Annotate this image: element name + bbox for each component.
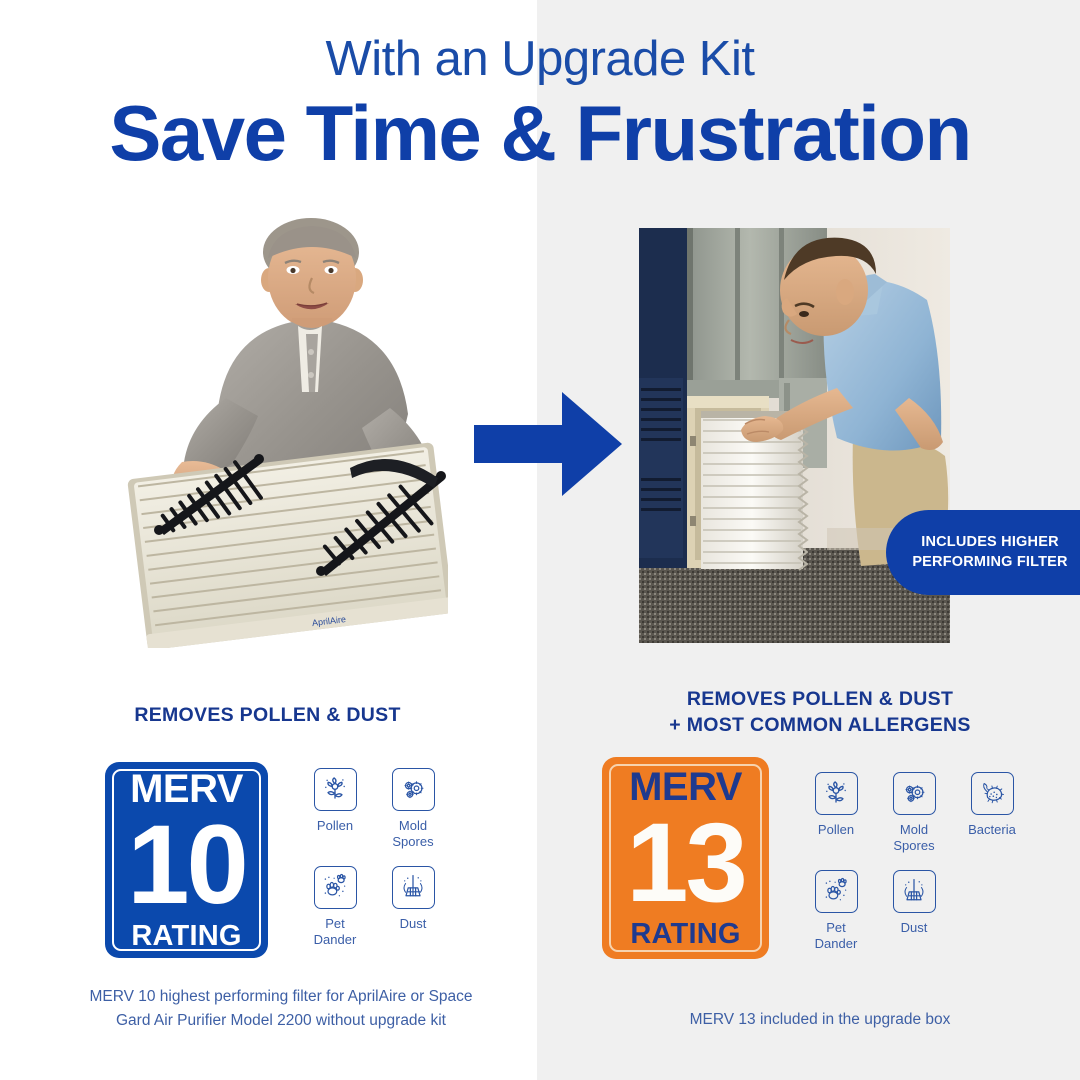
allergen-label-bacteria-right: Bacteria (968, 822, 1016, 838)
includes-higher-performing-filter-badge: INCLUDES HIGHER PERFORMING FILTER (886, 510, 1080, 595)
broom-icon (893, 870, 936, 913)
allergen-label-pollen-right: Pollen (818, 822, 854, 838)
headline-block: With an Upgrade Kit Save Time & Frustrat… (0, 34, 1080, 175)
merv-13-number: 13 (626, 809, 745, 917)
flower-icon (815, 772, 858, 815)
allergen-label-dust-right: Dust (901, 920, 928, 936)
allergen-cell-pollen-left: Pollen (296, 768, 374, 850)
includes-badge-line2: PERFORMING FILTER (912, 553, 1067, 573)
left-heading-line1: REMOVES POLLEN & DUST (60, 702, 475, 728)
mold-spores-icon (392, 768, 435, 811)
bacteria-icon (971, 772, 1014, 815)
allergen-cell-pet-dander-right: PetDander (797, 870, 875, 952)
merv-10-rating-label: RATING (131, 922, 241, 951)
right-allergen-icon-grid: Pollen (797, 772, 1057, 951)
allergen-label-pollen-left: Pollen (317, 818, 353, 834)
allergen-cell-pollen-right: Pollen (797, 772, 875, 854)
left-allergen-icon-grid: Pollen (296, 768, 476, 947)
arrow-right-icon (474, 392, 622, 496)
includes-badge-line1: INCLUDES HIGHER (912, 533, 1067, 553)
allergen-cell-dust-right: Dust (875, 870, 953, 952)
photo-man-holding-filter-frame: AprilAire (122, 212, 448, 648)
allergen-cell-spacer-right (953, 870, 1031, 952)
right-allergen-row-2: PetDander (797, 870, 1057, 952)
infographic-page: With an Upgrade Kit Save Time & Frustrat… (0, 0, 1080, 1080)
paw-print-icon (314, 866, 357, 909)
allergen-cell-pet-dander-left: PetDander (296, 866, 374, 948)
broom-icon (392, 866, 435, 909)
includes-badge-label: INCLUDES HIGHER PERFORMING FILTER (898, 533, 1067, 572)
allergen-label-pet-dander-left: PetDander (314, 916, 357, 948)
allergen-cell-bacteria-right: Bacteria (953, 772, 1031, 854)
right-section-heading: REMOVES POLLEN & DUST + MOST COMMON ALLE… (600, 686, 1040, 739)
allergen-label-mold-spores-right: MoldSpores (893, 822, 934, 854)
right-panel-caption: MERV 13 included in the upgrade box (608, 1008, 1032, 1032)
left-allergen-row-2: PetDander (296, 866, 476, 948)
left-panel-caption: MERV 10 highest performing filter for Ap… (86, 985, 476, 1033)
right-heading-line1: REMOVES POLLEN & DUST (600, 686, 1040, 712)
flower-icon (314, 768, 357, 811)
merv-10-rating-badge: MERV 10 RATING (105, 762, 268, 958)
merv-13-rating-badge: MERV 13 RATING (602, 757, 769, 959)
merv-13-rating-label: RATING (630, 920, 740, 949)
left-section-heading: REMOVES POLLEN & DUST (60, 702, 475, 728)
merv-10-number: 10 (127, 811, 246, 919)
paw-print-icon (815, 870, 858, 913)
allergen-cell-dust-left: Dust (374, 866, 452, 948)
left-allergen-row-1: Pollen (296, 768, 476, 850)
allergen-cell-mold-spores-right: MoldSpores (875, 772, 953, 854)
headline-title: Save Time & Frustration (0, 92, 1080, 175)
right-allergen-row-1: Pollen (797, 772, 1057, 854)
mold-spores-icon (893, 772, 936, 815)
allergen-label-pet-dander-right: PetDander (815, 920, 858, 952)
allergen-label-mold-spores-left: MoldSpores (392, 818, 433, 850)
right-heading-line2: + MOST COMMON ALLERGENS (600, 712, 1040, 738)
headline-subtitle: With an Upgrade Kit (0, 34, 1080, 86)
allergen-cell-mold-spores-left: MoldSpores (374, 768, 452, 850)
allergen-label-dust-left: Dust (400, 916, 427, 932)
